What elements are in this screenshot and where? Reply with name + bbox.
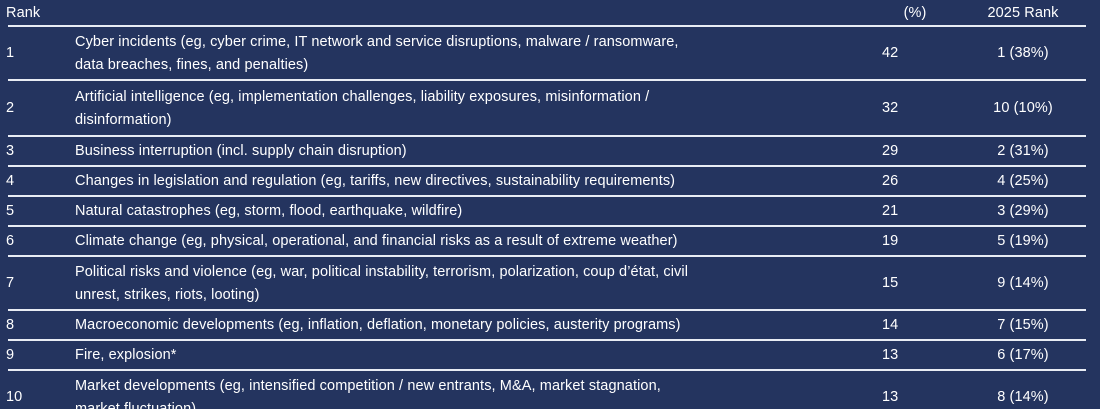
row-previous-rank: 3 (29%) xyxy=(970,200,1100,223)
row-percent: 13 xyxy=(860,344,970,367)
row-previous-rank: 4 (25%) xyxy=(970,170,1100,193)
table-row: 3 Business interruption (incl. supply ch… xyxy=(0,137,1100,167)
row-rank: 3 xyxy=(0,140,75,163)
row-risk-label: Macroeconomic developments (eg, inflatio… xyxy=(75,314,860,337)
column-header-previous-rank: 2025 Rank xyxy=(970,0,1100,25)
risk-line: disinformation) xyxy=(75,109,840,132)
risk-line: Political risks and violence (eg, war, p… xyxy=(75,261,840,284)
row-rank: 1 xyxy=(0,42,75,65)
top-risks-table: Rank (%) 2025 Rank 1 Cyber incidents (eg… xyxy=(0,0,1100,409)
row-previous-rank: 6 (17%) xyxy=(970,344,1100,367)
row-rank: 7 xyxy=(0,272,75,295)
column-header-percent: (%) xyxy=(860,0,970,25)
row-rank: 10 xyxy=(0,386,75,409)
table-row: 2 Artificial intelligence (eg, implement… xyxy=(0,81,1100,137)
row-rank: 8 xyxy=(0,314,75,337)
row-percent: 29 xyxy=(860,140,970,163)
row-percent: 15 xyxy=(860,272,970,295)
row-rank: 4 xyxy=(0,170,75,193)
risk-line: Artificial intelligence (eg, implementat… xyxy=(75,86,840,109)
row-rank: 5 xyxy=(0,200,75,223)
row-risk-label: Business interruption (incl. supply chai… xyxy=(75,140,860,163)
risk-line: Business interruption (incl. supply chai… xyxy=(75,140,840,163)
row-previous-rank: 2 (31%) xyxy=(970,140,1100,163)
row-rank: 6 xyxy=(0,230,75,253)
row-percent: 42 xyxy=(860,42,970,65)
row-previous-rank: 9 (14%) xyxy=(970,272,1100,295)
row-risk-label: Political risks and violence (eg, war, p… xyxy=(75,261,860,308)
row-risk-label: Fire, explosion* xyxy=(75,344,860,367)
row-risk-label: Natural catastrophes (eg, storm, flood, … xyxy=(75,200,860,223)
row-previous-rank: 8 (14%) xyxy=(970,386,1100,409)
row-risk-label: Climate change (eg, physical, operationa… xyxy=(75,230,860,253)
table-row: 1 Cyber incidents (eg, cyber crime, IT n… xyxy=(0,27,1100,81)
risk-line: Climate change (eg, physical, operationa… xyxy=(75,230,840,253)
column-header-rank: Rank xyxy=(0,0,75,25)
table-row: 5 Natural catastrophes (eg, storm, flood… xyxy=(0,197,1100,227)
row-previous-rank: 7 (15%) xyxy=(970,314,1100,337)
row-risk-label: Changes in legislation and regulation (e… xyxy=(75,170,860,193)
table-row: 7 Political risks and violence (eg, war,… xyxy=(0,257,1100,311)
row-percent: 19 xyxy=(860,230,970,253)
row-previous-rank: 10 (10%) xyxy=(970,97,1100,120)
table-header-row: Rank (%) 2025 Rank xyxy=(0,0,1100,27)
row-risk-label: Market developments (eg, intensified com… xyxy=(75,375,860,409)
table-row: 10 Market developments (eg, intensified … xyxy=(0,371,1100,409)
risk-line: Market developments (eg, intensified com… xyxy=(75,375,840,398)
row-risk-label: Cyber incidents (eg, cyber crime, IT net… xyxy=(75,31,860,78)
row-risk-label: Artificial intelligence (eg, implementat… xyxy=(75,86,860,133)
row-rank: 2 xyxy=(0,97,75,120)
column-header-risk xyxy=(75,0,860,2)
risk-line: market fluctuation) xyxy=(75,398,840,409)
risk-line: unrest, strikes, riots, looting) xyxy=(75,284,840,307)
table-row: 6 Climate change (eg, physical, operatio… xyxy=(0,227,1100,257)
row-previous-rank: 1 (38%) xyxy=(970,42,1100,65)
row-percent: 14 xyxy=(860,314,970,337)
table-row: 8 Macroeconomic developments (eg, inflat… xyxy=(0,311,1100,341)
risk-line: Fire, explosion* xyxy=(75,344,840,367)
row-percent: 21 xyxy=(860,200,970,223)
table-row: 9 Fire, explosion* 13 6 (17%) xyxy=(0,341,1100,371)
row-percent: 32 xyxy=(860,97,970,120)
row-percent: 26 xyxy=(860,170,970,193)
table-row: 4 Changes in legislation and regulation … xyxy=(0,167,1100,197)
risk-line: Natural catastrophes (eg, storm, flood, … xyxy=(75,200,840,223)
risk-line: Changes in legislation and regulation (e… xyxy=(75,170,840,193)
row-previous-rank: 5 (19%) xyxy=(970,230,1100,253)
row-rank: 9 xyxy=(0,344,75,367)
row-percent: 13 xyxy=(860,386,970,409)
risk-line: data breaches, fines, and penalties) xyxy=(75,54,840,77)
risk-line: Cyber incidents (eg, cyber crime, IT net… xyxy=(75,31,840,54)
risk-line: Macroeconomic developments (eg, inflatio… xyxy=(75,314,840,337)
